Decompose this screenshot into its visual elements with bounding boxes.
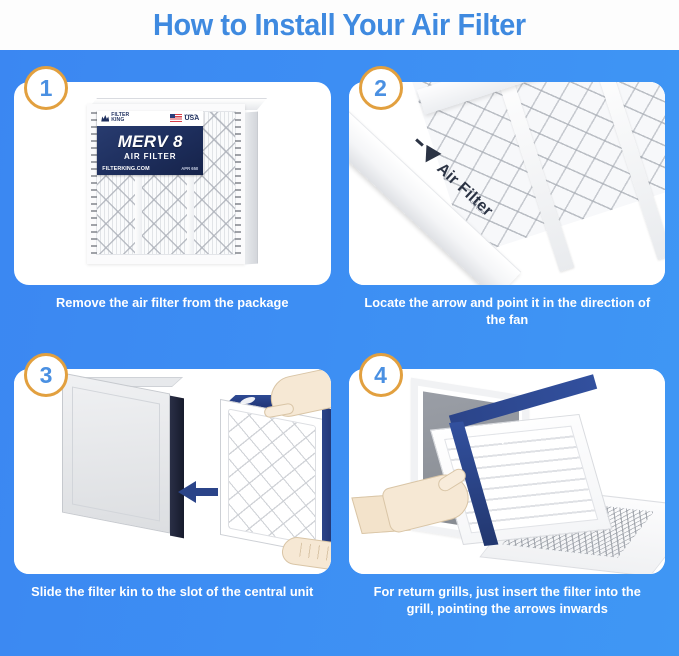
step-3-image-clip: [14, 369, 331, 574]
step-3-image-card: 3: [14, 369, 331, 574]
step-4-image-clip: [349, 369, 666, 574]
arrow-glyph: [507, 433, 515, 442]
country-text: USA: [184, 116, 199, 122]
step-card-3: 3 Slide the filter kin to the slot of th…: [14, 369, 331, 650]
step-4-image-card: 4: [349, 369, 666, 574]
air-filter-product-photo: FILTER KING MADE IN USA: [83, 98, 261, 270]
step-caption-1: Remove the air filter from the package: [19, 294, 326, 311]
step-number-4: 4: [374, 364, 387, 387]
steps-grid: FILTER KING MADE IN USA: [0, 50, 679, 656]
infographic-page: How to Install Your Air Filter: [0, 0, 679, 656]
step-card-1: FILTER KING MADE IN USA: [14, 82, 331, 363]
filter-side-face: [245, 111, 258, 264]
filter-corner-photo: Air Filter AIRFLOW: [349, 82, 666, 285]
header-band: How to Install Your Air Filter: [0, 0, 679, 50]
airflow-arrow-tail: [415, 138, 424, 146]
filter-illustration-mesh: [228, 408, 316, 545]
step-1-image-clip: FILTER KING MADE IN USA: [14, 82, 331, 285]
filter-illustration-face: [220, 399, 324, 555]
step-caption-4: For return grills, just insert the filte…: [353, 583, 660, 618]
return-grill-illustration: [349, 369, 666, 574]
step-card-2: Air Filter AIRFLOW 2 Locate the arrow an…: [349, 82, 666, 363]
filter-king-logo: FILTER KING: [101, 113, 129, 123]
filter-product-label: FILTER KING MADE IN USA: [97, 111, 203, 175]
brand-website: FILTERKING.COM: [102, 166, 149, 172]
step-caption-2: Locate the arrow and point it in the dir…: [353, 294, 660, 329]
step-1-image-card: FILTER KING MADE IN USA: [14, 82, 331, 285]
filter-blue-side-edge: [322, 407, 331, 546]
label-subtitle: AIR FILTER: [102, 152, 198, 161]
step-card-4: 4 For return grills, just insert the fil…: [349, 369, 666, 650]
slot-dark-edge: [170, 396, 184, 539]
step-caption-3: Slide the filter kin to the slot of the …: [19, 583, 326, 600]
slide-into-slot-illustration: [14, 369, 331, 574]
apr-rating: APR 650: [181, 166, 198, 171]
usa-flag-icon: [170, 114, 182, 122]
made-in-usa-badge: MADE IN USA: [170, 114, 199, 123]
step-2-image-card: Air Filter AIRFLOW 2: [349, 82, 666, 285]
filter-right-ticks: [235, 112, 241, 256]
insert-arrow-shaft: [194, 488, 218, 496]
step-number-3: 3: [40, 364, 53, 387]
slot-inner-outline: [72, 386, 160, 521]
brand-line-2: KING: [111, 118, 129, 123]
step-badge-1: 1: [24, 66, 68, 110]
merv-rating: MERV 8: [102, 133, 198, 150]
label-footer-strip: FILTERKING.COM APR 650: [102, 166, 198, 172]
label-header-strip: FILTER KING MADE IN USA: [97, 111, 203, 126]
crown-icon: [101, 115, 109, 122]
step-badge-3: 3: [24, 353, 68, 397]
page-title: How to Install Your Air Filter: [153, 7, 526, 43]
step-number-2: 2: [374, 77, 387, 100]
step-badge-2: 2: [359, 66, 403, 110]
step-number-1: 1: [40, 77, 53, 100]
step-2-image-clip: Air Filter AIRFLOW: [349, 82, 666, 285]
step-badge-4: 4: [359, 353, 403, 397]
